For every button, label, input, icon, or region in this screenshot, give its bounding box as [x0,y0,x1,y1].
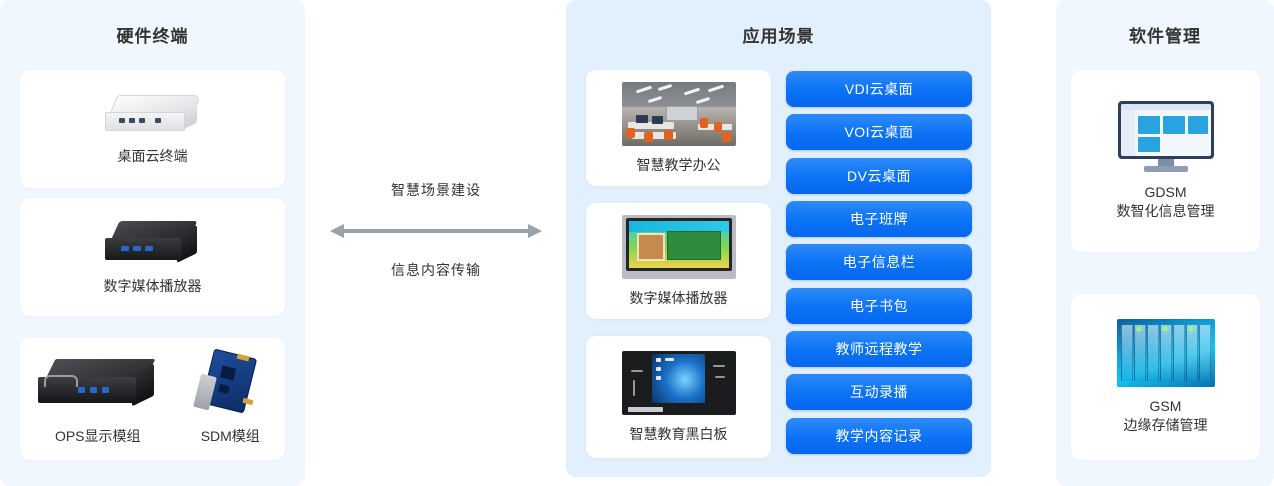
hardware-card-modules[interactable]: OPS显示模组 SDM模组 [20,338,285,460]
center-bottom-label: 信息内容传输 [330,260,542,280]
monitor-dashboard-icon [1118,101,1214,173]
scenario-button-electronic-class-card[interactable]: 电子班牌 [786,201,972,237]
hardware-panel-title: 硬件终端 [0,22,305,47]
module-pair-row: OPS显示模组 SDM模组 [20,353,285,446]
whiteboard-photo [622,351,736,415]
sdm-module-icon [193,353,267,417]
media-player-icon [105,219,201,267]
thin-client-icon [105,93,201,137]
scenario-button-dv-cloud-desktop[interactable]: DV云桌面 [786,158,972,194]
software-card-gsm[interactable]: GSM 边缘存储管理 [1071,294,1260,460]
hardware-card-label: 数字媒体播放器 [104,277,202,296]
scenario-button-teaching-content-record[interactable]: 教学内容记录 [786,418,972,454]
scenario-button-electronic-info-bar[interactable]: 电子信息栏 [786,244,972,280]
diagram-root: 硬件终端 桌面云终端 数字媒体播放器 [0,0,1274,486]
center-top-label: 智慧场景建设 [330,180,542,200]
scenario-button-vdi-cloud-desktop[interactable]: VDI云桌面 [786,71,972,107]
center-connector-group: 智慧场景建设 信息内容传输 [330,180,542,280]
scenario-card-smart-teaching-office[interactable]: 智慧教学办公 [586,70,771,186]
storage-array-icon [1117,319,1215,387]
software-card-label: GDSM 数智化信息管理 [1117,183,1215,221]
module-item-ops[interactable]: OPS显示模组 [38,355,158,446]
scenario-card-label: 数字媒体播放器 [630,289,728,308]
scenario-card-label: 智慧教学办公 [637,156,721,175]
classroom-photo [622,82,736,146]
hardware-card-digital-media-player[interactable]: 数字媒体播放器 [20,198,285,316]
module-label-sdm: SDM模组 [201,427,260,446]
software-card-label: GSM 边缘存储管理 [1124,397,1208,435]
scenario-card-digital-media-player[interactable]: 数字媒体播放器 [586,203,771,319]
double-headed-arrow-icon [330,224,542,238]
hardware-card-desktop-cloud-terminal[interactable]: 桌面云终端 [20,70,285,188]
ops-module-icon [38,355,158,417]
scenario-panel-title: 应用场景 [566,22,991,47]
module-item-sdm[interactable]: SDM模组 [193,353,267,446]
hardware-card-label: 桌面云终端 [118,147,188,166]
scenario-button-interactive-recording[interactable]: 互动录播 [786,374,972,410]
module-label-ops: OPS显示模组 [55,427,141,446]
scenario-button-voi-cloud-desktop[interactable]: VOI云桌面 [786,114,972,150]
scenario-button-electronic-schoolbag[interactable]: 电子书包 [786,288,972,324]
interactive-board-photo [622,215,736,279]
scenario-button-teacher-remote-teaching[interactable]: 教师远程教学 [786,331,972,367]
scenario-card-label: 智慧教育黑白板 [630,425,728,444]
software-panel-title: 软件管理 [1056,22,1274,47]
scenario-card-smart-education-whiteboard[interactable]: 智慧教育黑白板 [586,336,771,458]
software-card-gdsm[interactable]: GDSM 数智化信息管理 [1071,70,1260,252]
